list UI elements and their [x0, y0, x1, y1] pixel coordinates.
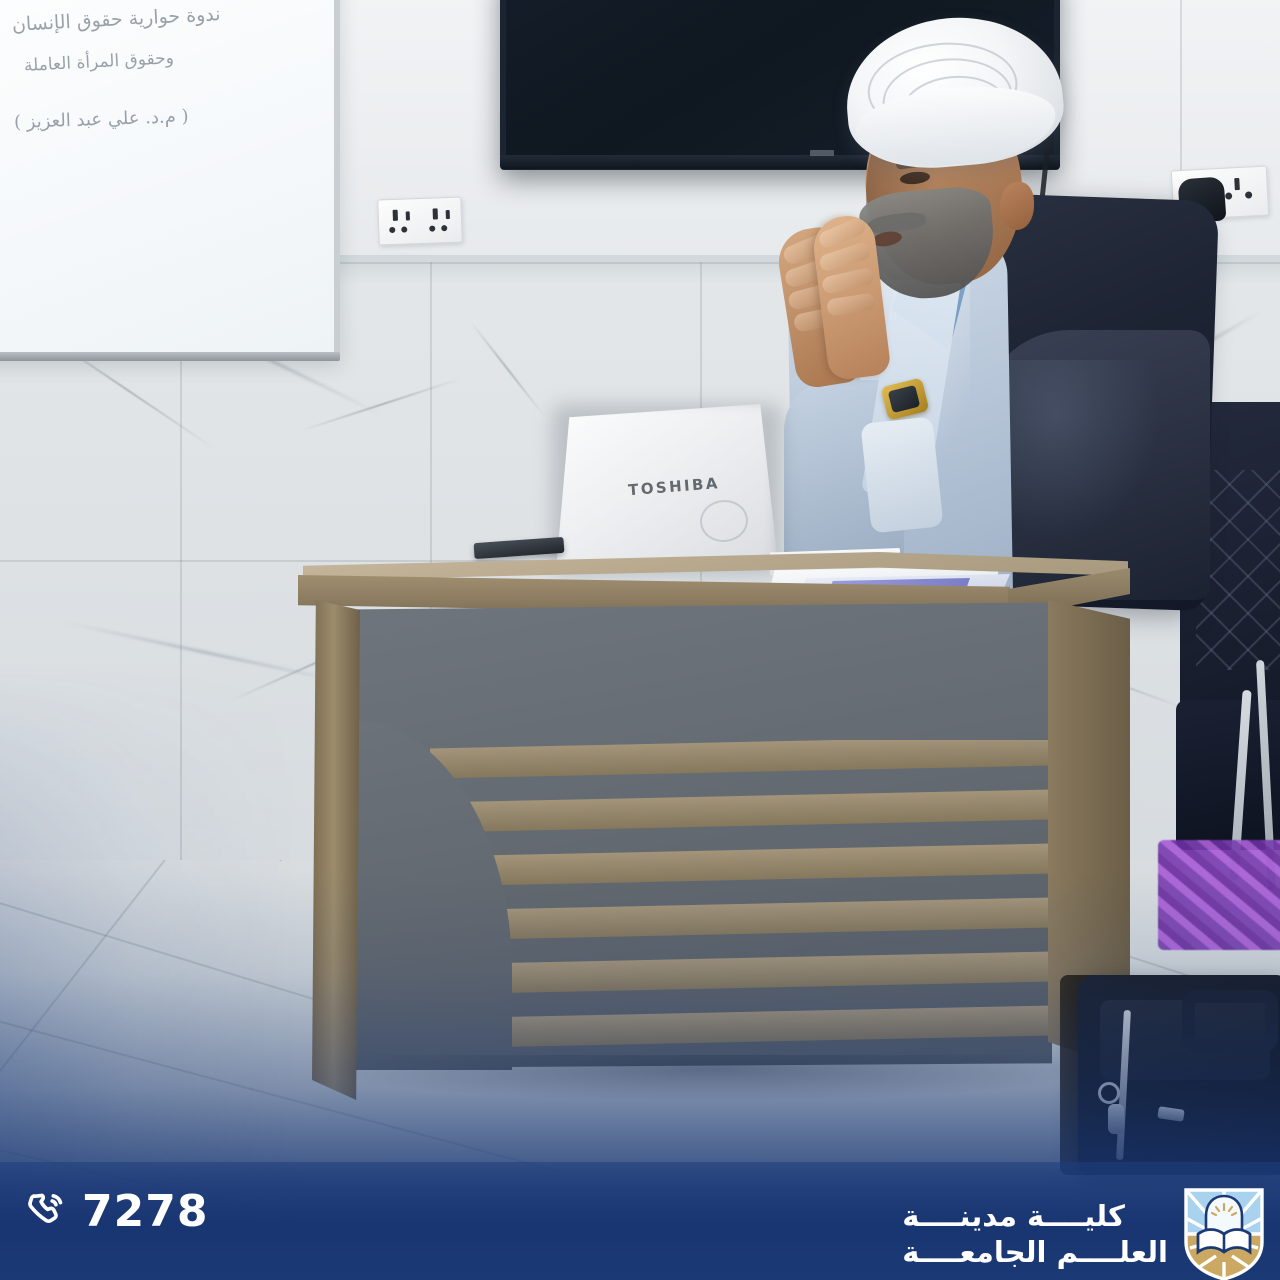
- person-ear: [1000, 182, 1034, 230]
- university-shield-icon: [1182, 1186, 1266, 1280]
- desk-floor-shadow: [330, 1055, 1090, 1101]
- bag-zipper-pull: [1108, 1104, 1124, 1134]
- desk-slat: [430, 951, 1052, 994]
- whiteboard-line-1: ندوة حوارية حقوق الإنسان: [11, 3, 221, 36]
- desk-left-leg: [312, 600, 360, 1100]
- person-cloak-highlight: [1000, 360, 1160, 540]
- whiteboard-line-3: ( م.د. علي عبد العزيز ): [14, 106, 189, 133]
- whiteboard-line-2: وحقوق المرأة العاملة: [23, 48, 174, 76]
- screenshot-root: ندوة حوارية حقوق الإنسان وحقوق المرأة ال…: [0, 0, 1280, 1280]
- double-wall-socket-left: [377, 197, 463, 246]
- phone-call-icon: [24, 1190, 68, 1234]
- desk-slat: [430, 1005, 1052, 1048]
- purple-fabric: [1158, 840, 1280, 950]
- whiteboard-frame-bottom: [0, 352, 340, 361]
- university-name-line1: كليــــة مدينــــة: [902, 1200, 1125, 1232]
- desk-slat: [430, 843, 1052, 886]
- contact-phone-block[interactable]: 7278: [24, 1190, 208, 1234]
- desk-slat: [430, 789, 1052, 832]
- television-brand-mark: [810, 150, 834, 156]
- phone-number: 7278: [82, 1190, 208, 1234]
- university-logo-block[interactable]: كليــــة مدينــــة العلــــم الجامعــــة: [902, 1186, 1266, 1280]
- desk-slat: [430, 897, 1052, 940]
- bag-zipper-ring: [1098, 1082, 1120, 1104]
- desk-slat-group: [430, 740, 1052, 1070]
- bag-handle: [1182, 990, 1278, 1052]
- person-sleeve-cuff: [860, 417, 943, 534]
- university-name-line2: العلــــم الجامعــــة: [902, 1236, 1168, 1268]
- desk-slat: [430, 740, 1052, 779]
- whiteboard-handwriting: ندوة حوارية حقوق الإنسان وحقوق المرأة ال…: [0, 0, 340, 200]
- university-name: كليــــة مدينــــة العلــــم الجامعــــة: [902, 1200, 1168, 1268]
